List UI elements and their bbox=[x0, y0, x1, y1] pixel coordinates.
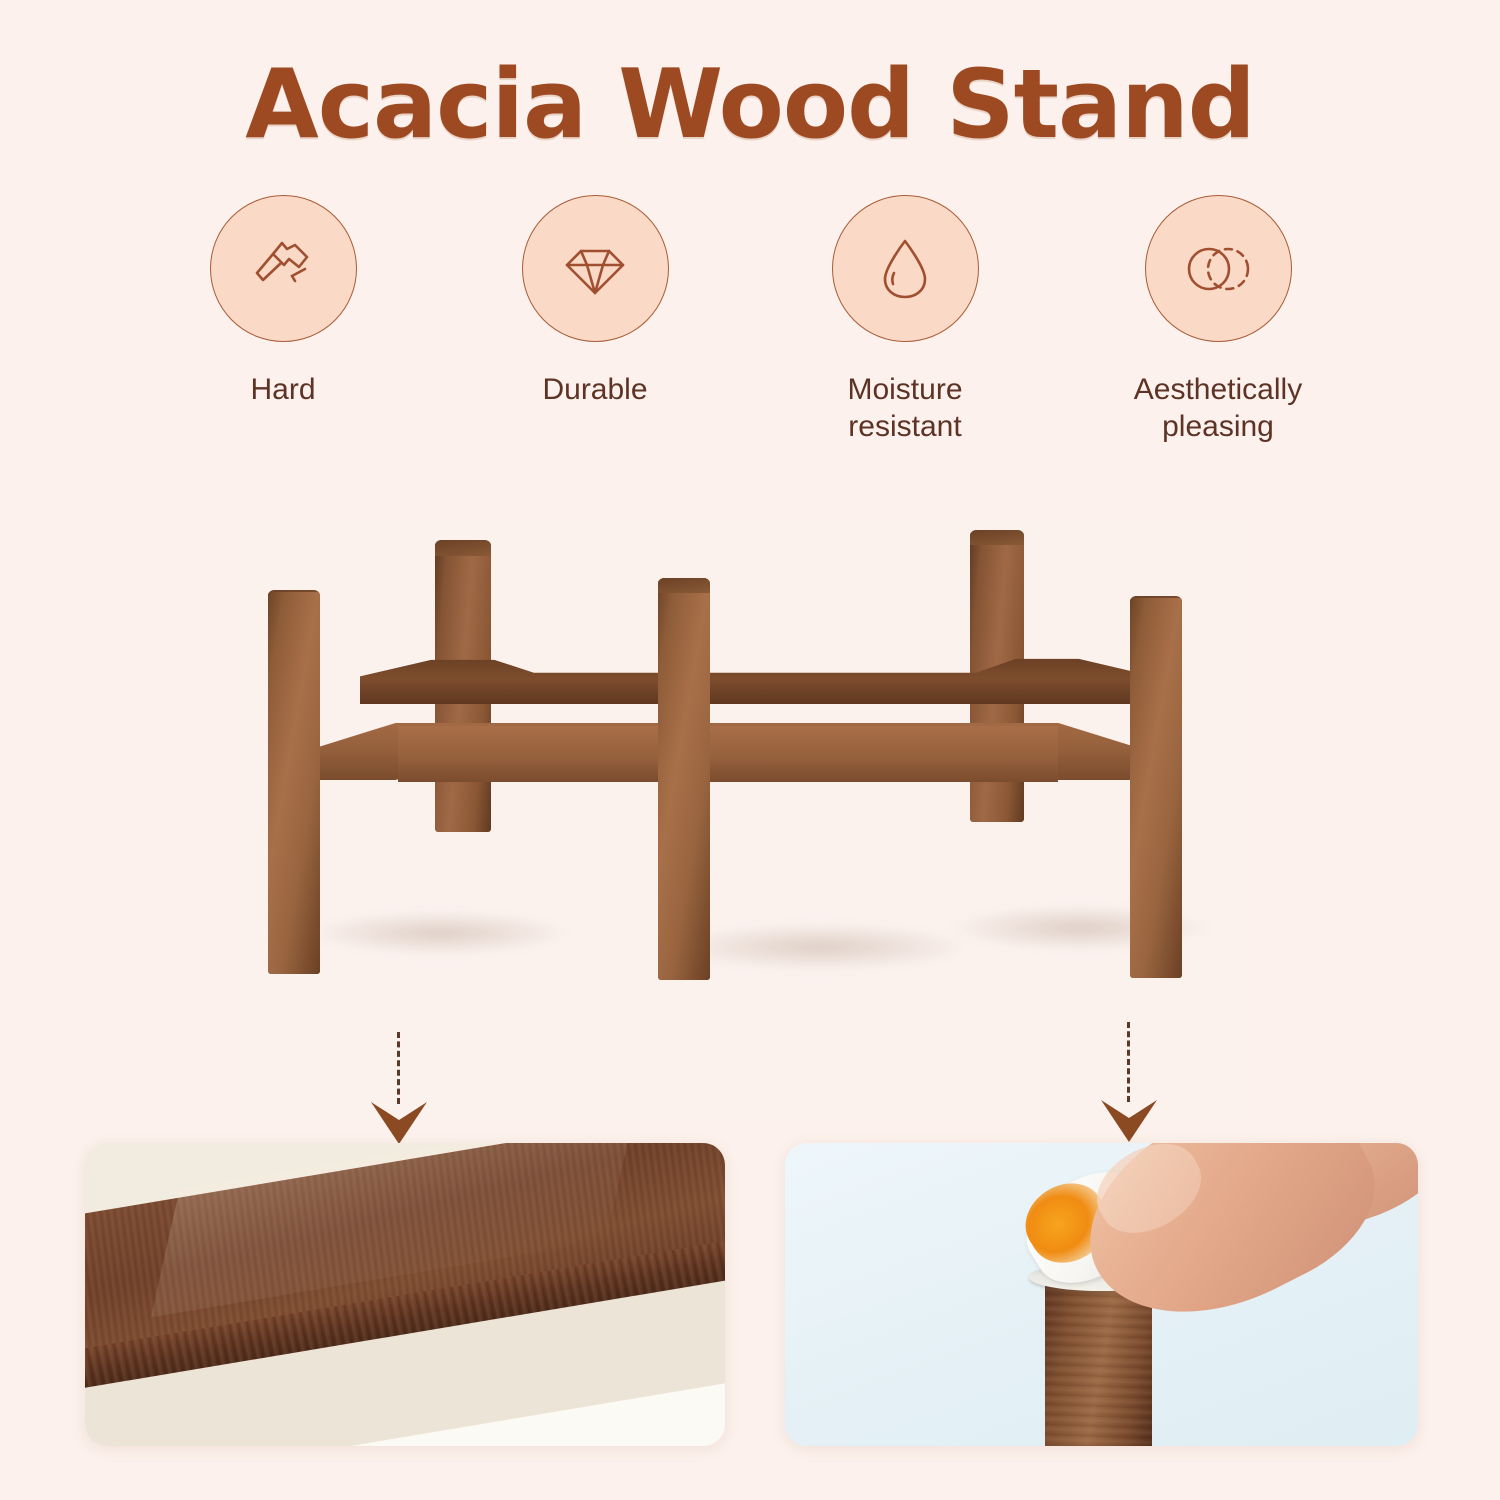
adhesive-pad-photo bbox=[785, 1143, 1418, 1446]
stand-leg-front-right-overlay bbox=[1130, 598, 1182, 978]
feature-icon-circle bbox=[832, 195, 979, 342]
stand-rail-back bbox=[360, 658, 1150, 704]
page-title: Acacia Wood Stand bbox=[0, 56, 1500, 156]
feature-item-durable: Durable bbox=[475, 195, 715, 409]
stand-leg-center-front-overlay bbox=[658, 580, 710, 980]
stand-leg-back-right-top bbox=[970, 530, 1024, 545]
feature-icon-circle bbox=[1145, 195, 1292, 342]
hero-product-photo bbox=[250, 520, 1250, 1120]
feature-item-moisture-resistant: Moistureresistant bbox=[785, 195, 1025, 445]
feature-icon-circle bbox=[522, 195, 669, 342]
infographic-page: Acacia Wood Stand Hard bbox=[0, 0, 1500, 1500]
stand-leg-center-front-top-overlay bbox=[658, 578, 710, 593]
wood-plank-photo bbox=[85, 1143, 725, 1446]
feature-item-aesthetically-pleasing: Aestheticallypleasing bbox=[1098, 195, 1338, 445]
wood-stand bbox=[250, 520, 1250, 1120]
feature-icon-circle bbox=[210, 195, 357, 342]
stand-leg-front-left-overlay bbox=[268, 592, 320, 974]
detail-panel-wood-plank bbox=[85, 1143, 725, 1446]
feature-label: Moistureresistant bbox=[785, 372, 1025, 445]
feature-item-hard: Hard bbox=[163, 195, 403, 409]
feature-label: Hard bbox=[163, 372, 403, 409]
stand-rail-front-span bbox=[398, 726, 1058, 782]
detail-panel-adhesive-pad bbox=[785, 1143, 1418, 1446]
arrow-down-icon bbox=[1098, 1096, 1160, 1146]
dashed-line bbox=[1127, 1022, 1130, 1102]
right-connector bbox=[1126, 1022, 1132, 1144]
feature-label: Aestheticallypleasing bbox=[1098, 372, 1338, 445]
dashed-line bbox=[397, 1032, 400, 1104]
feature-label: Durable bbox=[475, 372, 715, 409]
left-connector bbox=[396, 1032, 402, 1144]
hammer-icon bbox=[243, 229, 323, 309]
overlapping-circles-icon bbox=[1178, 235, 1258, 303]
arrow-down-icon bbox=[368, 1098, 430, 1148]
water-drop-icon bbox=[867, 231, 943, 307]
product-stand-illustration bbox=[250, 520, 1250, 1120]
diamond-icon bbox=[557, 231, 633, 307]
stand-leg-back-left-top bbox=[435, 540, 491, 556]
feature-row: Hard Durable bbox=[0, 195, 1500, 465]
